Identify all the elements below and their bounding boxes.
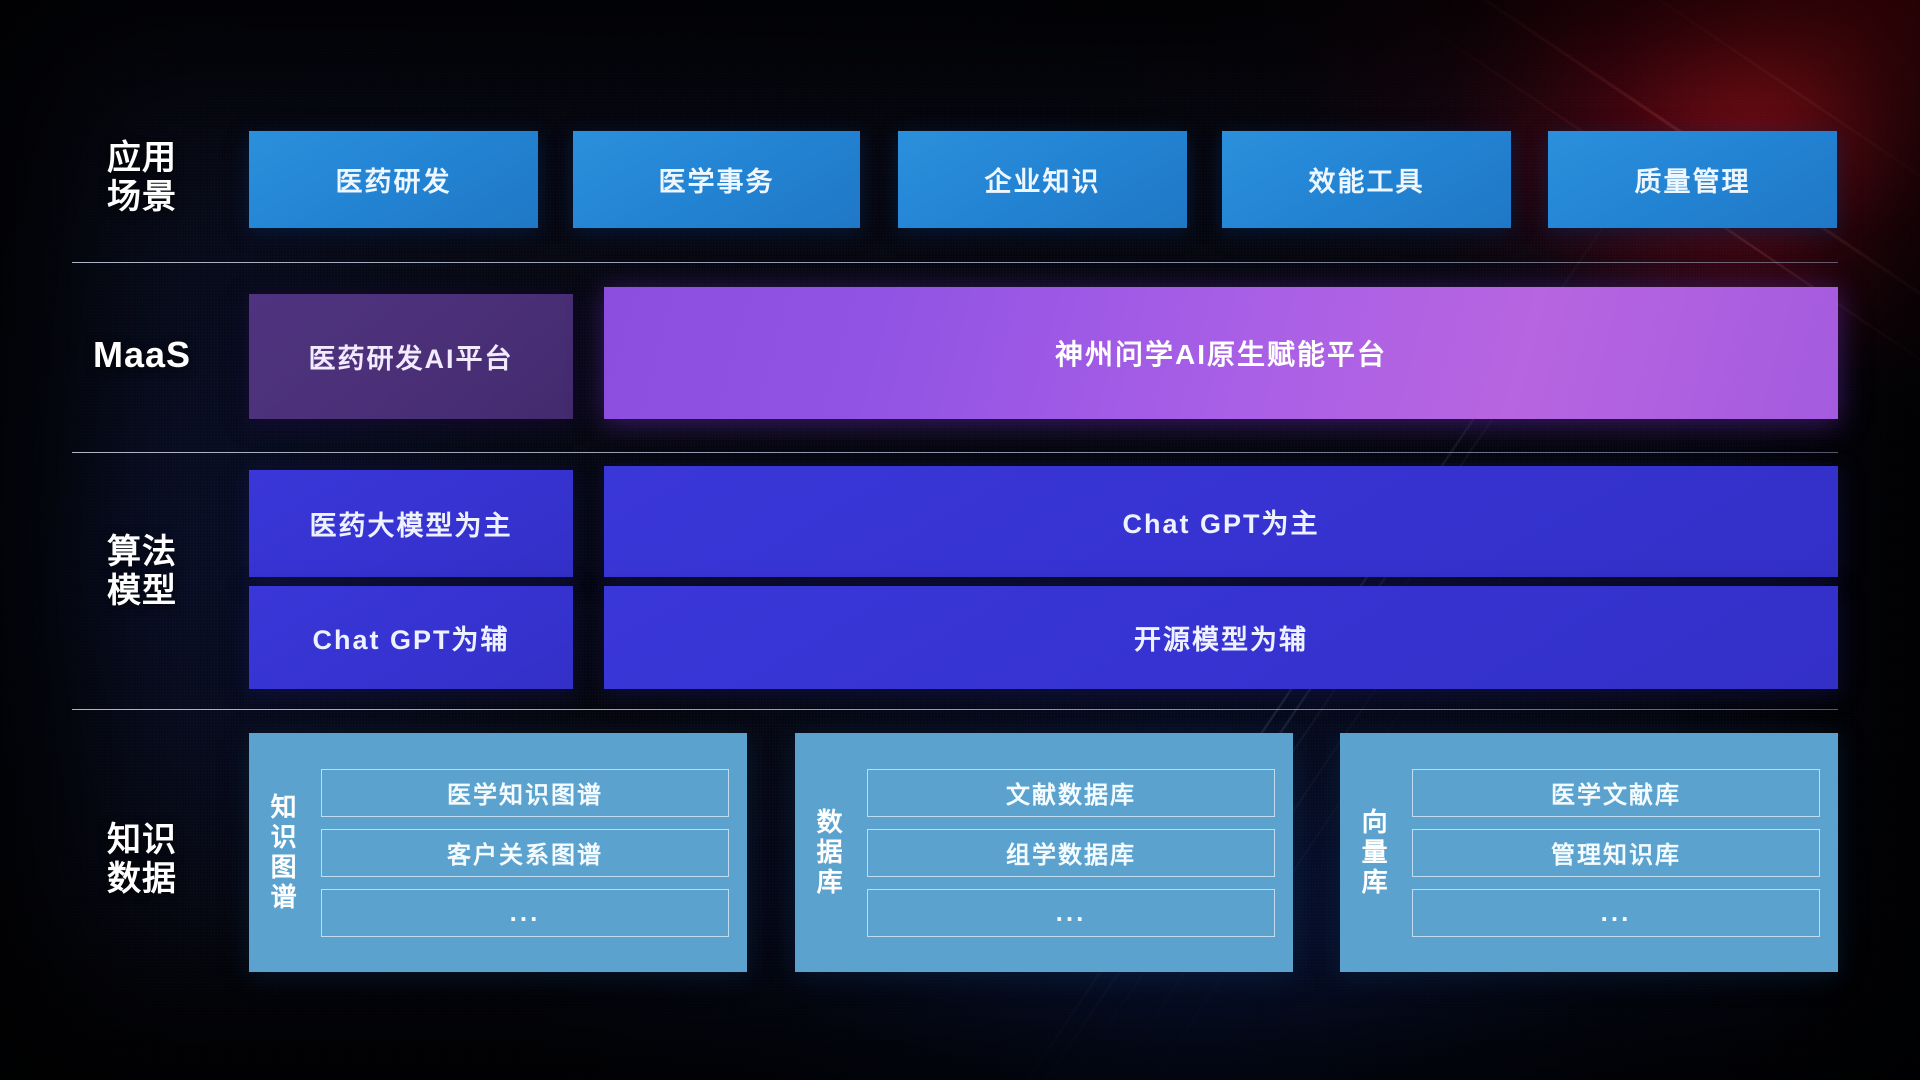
- app-box-5-label: 质量管理: [1635, 160, 1751, 199]
- algo-box-row1-right[interactable]: Chat GPT为主: [604, 466, 1838, 577]
- knowledge-group-2-items: 文献数据库 组学数据库 ...: [861, 733, 1293, 972]
- knowledge-group-3-items: 医学文献库 管理知识库 ...: [1406, 733, 1838, 972]
- knowledge-group-1-item-1[interactable]: 医学知识图谱: [321, 769, 729, 817]
- knowledge-group-2-label: 数据库: [795, 733, 861, 972]
- tier-label-algorithm-line2: 模型: [107, 572, 177, 611]
- knowledge-group-1-item-2[interactable]: 客户关系图谱: [321, 829, 729, 877]
- maas-right-box[interactable]: 神州问学AI原生赋能平台: [604, 287, 1838, 419]
- algo-box-row2-right-label: 开源模型为辅: [1134, 618, 1308, 657]
- app-box-4[interactable]: 效能工具: [1222, 131, 1511, 228]
- knowledge-group-2[interactable]: 数据库 文献数据库 组学数据库 ...: [795, 733, 1293, 972]
- knowledge-group-1-label: 知识图谱: [249, 733, 315, 972]
- tier-label-algorithm-line1: 算法: [107, 533, 177, 572]
- maas-left-box[interactable]: 医药研发AI平台: [249, 294, 573, 419]
- app-box-5[interactable]: 质量管理: [1548, 131, 1837, 228]
- divider-3: [72, 709, 1838, 710]
- divider-2: [72, 452, 1838, 453]
- app-box-3-label: 企业知识: [985, 160, 1101, 199]
- tier-label-maas-text: MaaS: [93, 334, 191, 375]
- architecture-diagram: 应用 场景 医药研发 医学事务 企业知识 效能工具 质量管理 MaaS 医药研发…: [0, 0, 1920, 1080]
- tier-label-application: 应用 场景: [78, 118, 206, 238]
- tier-label-knowledge-line1: 知识: [107, 821, 177, 860]
- knowledge-group-2-item-2[interactable]: 组学数据库: [867, 829, 1275, 877]
- knowledge-group-1-item-3[interactable]: ...: [321, 889, 729, 937]
- knowledge-group-3-label: 向量库: [1340, 733, 1406, 972]
- algo-box-row2-right[interactable]: 开源模型为辅: [604, 586, 1838, 689]
- knowledge-group-3-item-2[interactable]: 管理知识库: [1412, 829, 1820, 877]
- algo-box-row2-left[interactable]: Chat GPT为辅: [249, 586, 573, 689]
- app-box-1-label: 医药研发: [336, 160, 452, 199]
- app-box-1[interactable]: 医药研发: [249, 131, 538, 228]
- tier-label-knowledge: 知识 数据: [78, 800, 206, 920]
- knowledge-group-1-items: 医学知识图谱 客户关系图谱 ...: [315, 733, 747, 972]
- knowledge-group-1[interactable]: 知识图谱 医学知识图谱 客户关系图谱 ...: [249, 733, 747, 972]
- tier-label-maas: MaaS: [72, 330, 212, 380]
- tier-label-algorithm: 算法 模型: [78, 512, 206, 632]
- tier-label-application-line1: 应用: [107, 139, 177, 178]
- app-box-3[interactable]: 企业知识: [898, 131, 1187, 228]
- app-box-2-label: 医学事务: [659, 160, 775, 199]
- tier-label-application-line2: 场景: [107, 178, 177, 217]
- algo-box-row1-left-label: 医药大模型为主: [310, 504, 513, 543]
- knowledge-group-3[interactable]: 向量库 医学文献库 管理知识库 ...: [1340, 733, 1838, 972]
- knowledge-group-2-item-3[interactable]: ...: [867, 889, 1275, 937]
- knowledge-group-3-item-1[interactable]: 医学文献库: [1412, 769, 1820, 817]
- app-box-4-label: 效能工具: [1309, 160, 1425, 199]
- algo-box-row1-left[interactable]: 医药大模型为主: [249, 470, 573, 577]
- maas-right-box-label: 神州问学AI原生赋能平台: [1055, 333, 1387, 373]
- knowledge-group-3-item-3[interactable]: ...: [1412, 889, 1820, 937]
- algo-box-row2-left-label: Chat GPT为辅: [312, 618, 509, 657]
- algo-box-row1-right-label: Chat GPT为主: [1122, 502, 1319, 541]
- divider-1: [72, 262, 1838, 263]
- knowledge-group-2-item-1[interactable]: 文献数据库: [867, 769, 1275, 817]
- tier-label-knowledge-line2: 数据: [107, 860, 177, 899]
- maas-left-box-label: 医药研发AI平台: [309, 337, 514, 376]
- app-box-2[interactable]: 医学事务: [573, 131, 860, 228]
